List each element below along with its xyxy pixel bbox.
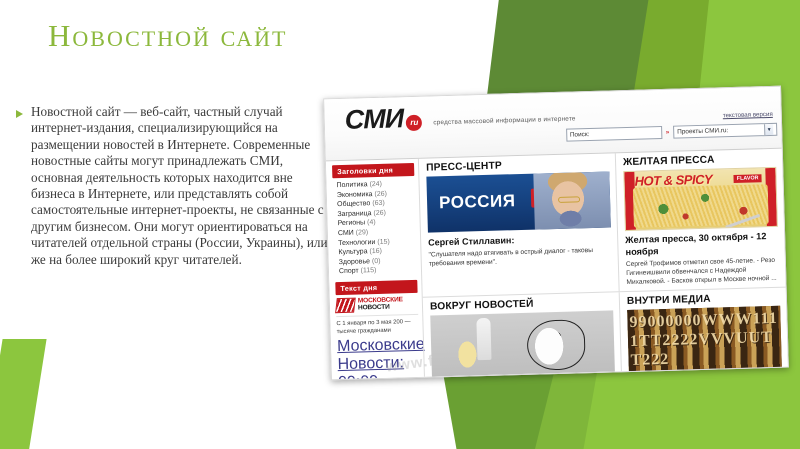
text-of-day-source-link[interactable]: Московские Новости: <box>337 336 420 374</box>
press-center-quote: "Слушателя надо втягивать в острый диало… <box>428 245 611 268</box>
search-input[interactable]: Поиск: <box>566 126 662 142</box>
smi-ru-website: СМИ ru средства массовой информации в ин… <box>324 87 788 380</box>
around-news-block: ВОКРУГ НОВОСТЕЙ <box>423 292 621 379</box>
around-news-illustration[interactable] <box>430 310 615 379</box>
category-name: Здоровье <box>339 258 370 266</box>
projects-select[interactable]: Проекты СМИ.ru: ▼ <box>673 123 777 139</box>
yellow-press-headline[interactable]: Желтая пресса, 30 октября - 12 ноября <box>625 231 779 258</box>
logo-text: СМИ <box>344 103 403 136</box>
yellow-press-body: Сергей Трофимов отметил свое 45-летие. -… <box>626 256 780 288</box>
category-list: Политика (24) Экономика (26) Общество (6… <box>332 179 417 277</box>
flavor-badge: FLAVOR <box>734 174 762 183</box>
search-submit-icon[interactable]: » <box>666 129 670 135</box>
bottle-shape <box>476 318 491 360</box>
category-count: (24) <box>369 181 382 188</box>
mn-wordmark: МОСКОВСКИЕ НОВОСТИ <box>358 296 403 312</box>
category-count: (29) <box>356 229 369 236</box>
presentation-slide: Новостной сайт Новостной сайт — веб-сайт… <box>0 0 800 449</box>
category-count: (0) <box>372 258 381 265</box>
list-item[interactable]: Спорт (115) <box>339 265 417 277</box>
category-count: (16) <box>369 248 382 255</box>
category-count: (26) <box>374 190 387 197</box>
category-count: (63) <box>372 200 385 207</box>
fish-drawing-icon <box>526 319 585 371</box>
inside-media-title: ВНУТРИ МЕДИА <box>627 292 780 307</box>
category-name: Общество <box>337 200 370 208</box>
text-of-day-body: С 1 января по 3 мая 200 — тысяче граждан… <box>336 318 418 337</box>
sidebar: Заголовки дня Политика (24) Экономика (2… <box>326 159 424 379</box>
mn-line-2: НОВОСТИ <box>358 304 403 313</box>
inside-media-illustration[interactable]: 99000000WWW1111TT2222VVVUUTT222 <box>627 306 782 376</box>
category-count: (15) <box>377 238 390 245</box>
rossiya-24-banner[interactable]: РОССИЯ 24 <box>426 171 610 232</box>
sidebar-headlines-title: Заголовки дня <box>332 163 414 178</box>
site-tagline: средства массовой информации в интернете <box>433 115 575 126</box>
category-name: СМИ <box>338 230 354 237</box>
search-area: Поиск: » Проекты СМИ.ru: ▼ <box>566 123 778 142</box>
site-logo[interactable]: СМИ ru средства массовой информации в ин… <box>344 98 576 135</box>
page-title: Новостной сайт <box>48 18 287 54</box>
site-columns: Заголовки дня Политика (24) Экономика (2… <box>326 149 788 380</box>
category-count: (26) <box>373 210 386 217</box>
bullet-item-text: Новостной сайт — веб-сайт, частный случа… <box>31 104 328 268</box>
category-name: Технологии <box>338 239 375 247</box>
press-center-title: ПРЕСС-ЦЕНТР <box>426 157 609 173</box>
logo-ru-badge-icon: ru <box>406 114 422 130</box>
green-shape-left-stripe <box>0 339 47 449</box>
mn-mark-icon <box>335 298 356 314</box>
chevron-down-icon: ▼ <box>764 124 773 135</box>
category-name: Экономика <box>337 191 373 199</box>
category-name: Регионы <box>338 220 366 228</box>
hot-spicy-banner[interactable]: HOT & SPICY FLAVOR <box>623 167 778 231</box>
press-center-block: ПРЕСС-ЦЕНТР РОССИЯ 24 Сергей Стиллавин: … <box>419 153 619 296</box>
category-count: (115) <box>361 267 377 274</box>
glasses-icon <box>558 196 580 203</box>
around-news-title: ВОКРУГ НОВОСТЕЙ <box>430 296 613 312</box>
yellow-press-title: ЖЕЛТАЯ ПРЕССА <box>623 153 776 168</box>
text-version-link[interactable]: текстовая версия <box>723 111 773 119</box>
sidebar-text-of-day-title: Текст дня <box>335 280 417 295</box>
yellow-press-block: ЖЕЛТАЯ ПРЕССА HOT & SPICY FLAVOR Желтая … <box>615 149 786 292</box>
category-name: Политика <box>336 181 367 189</box>
moskovskie-novosti-logo[interactable]: МОСКОВСКИЕ НОВОСТИ <box>336 296 418 317</box>
embedded-website-screenshot: СМИ ru средства массовой информации в ин… <box>323 86 789 381</box>
category-name: Заграница <box>337 210 371 218</box>
noodles-photo <box>633 184 769 228</box>
top-row: ПРЕСС-ЦЕНТР РОССИЯ 24 Сергей Стиллавин: … <box>419 149 786 297</box>
inside-media-block: ВНУТРИ МЕДИА 99000000WWW1111TT2222VVVUUT… <box>619 288 788 377</box>
bullet-list: Новостной сайт — веб-сайт, частный случа… <box>16 104 328 268</box>
letterpress-glyphs: 99000000WWW1111TT2222VVVUUTT222 <box>627 306 782 376</box>
site-header: СМИ ru средства массовой информации в ин… <box>324 87 782 162</box>
bottom-row: ВОКРУГ НОВОСТЕЙ ВНУТРИ МЕДИА 99000000WWW… <box>423 287 788 380</box>
category-count: (4) <box>367 219 376 226</box>
projects-select-label: Проекты СМИ.ru: <box>677 125 728 138</box>
category-name: Спорт <box>339 268 359 276</box>
bullet-triangle-icon <box>16 110 23 118</box>
category-name: Культура <box>338 248 367 256</box>
main-content: ПРЕСС-ЦЕНТР РОССИЯ 24 Сергей Стиллавин: … <box>418 149 788 377</box>
person-photo <box>533 171 611 229</box>
rossiya-24-channel-text: РОССИЯ <box>439 191 516 213</box>
